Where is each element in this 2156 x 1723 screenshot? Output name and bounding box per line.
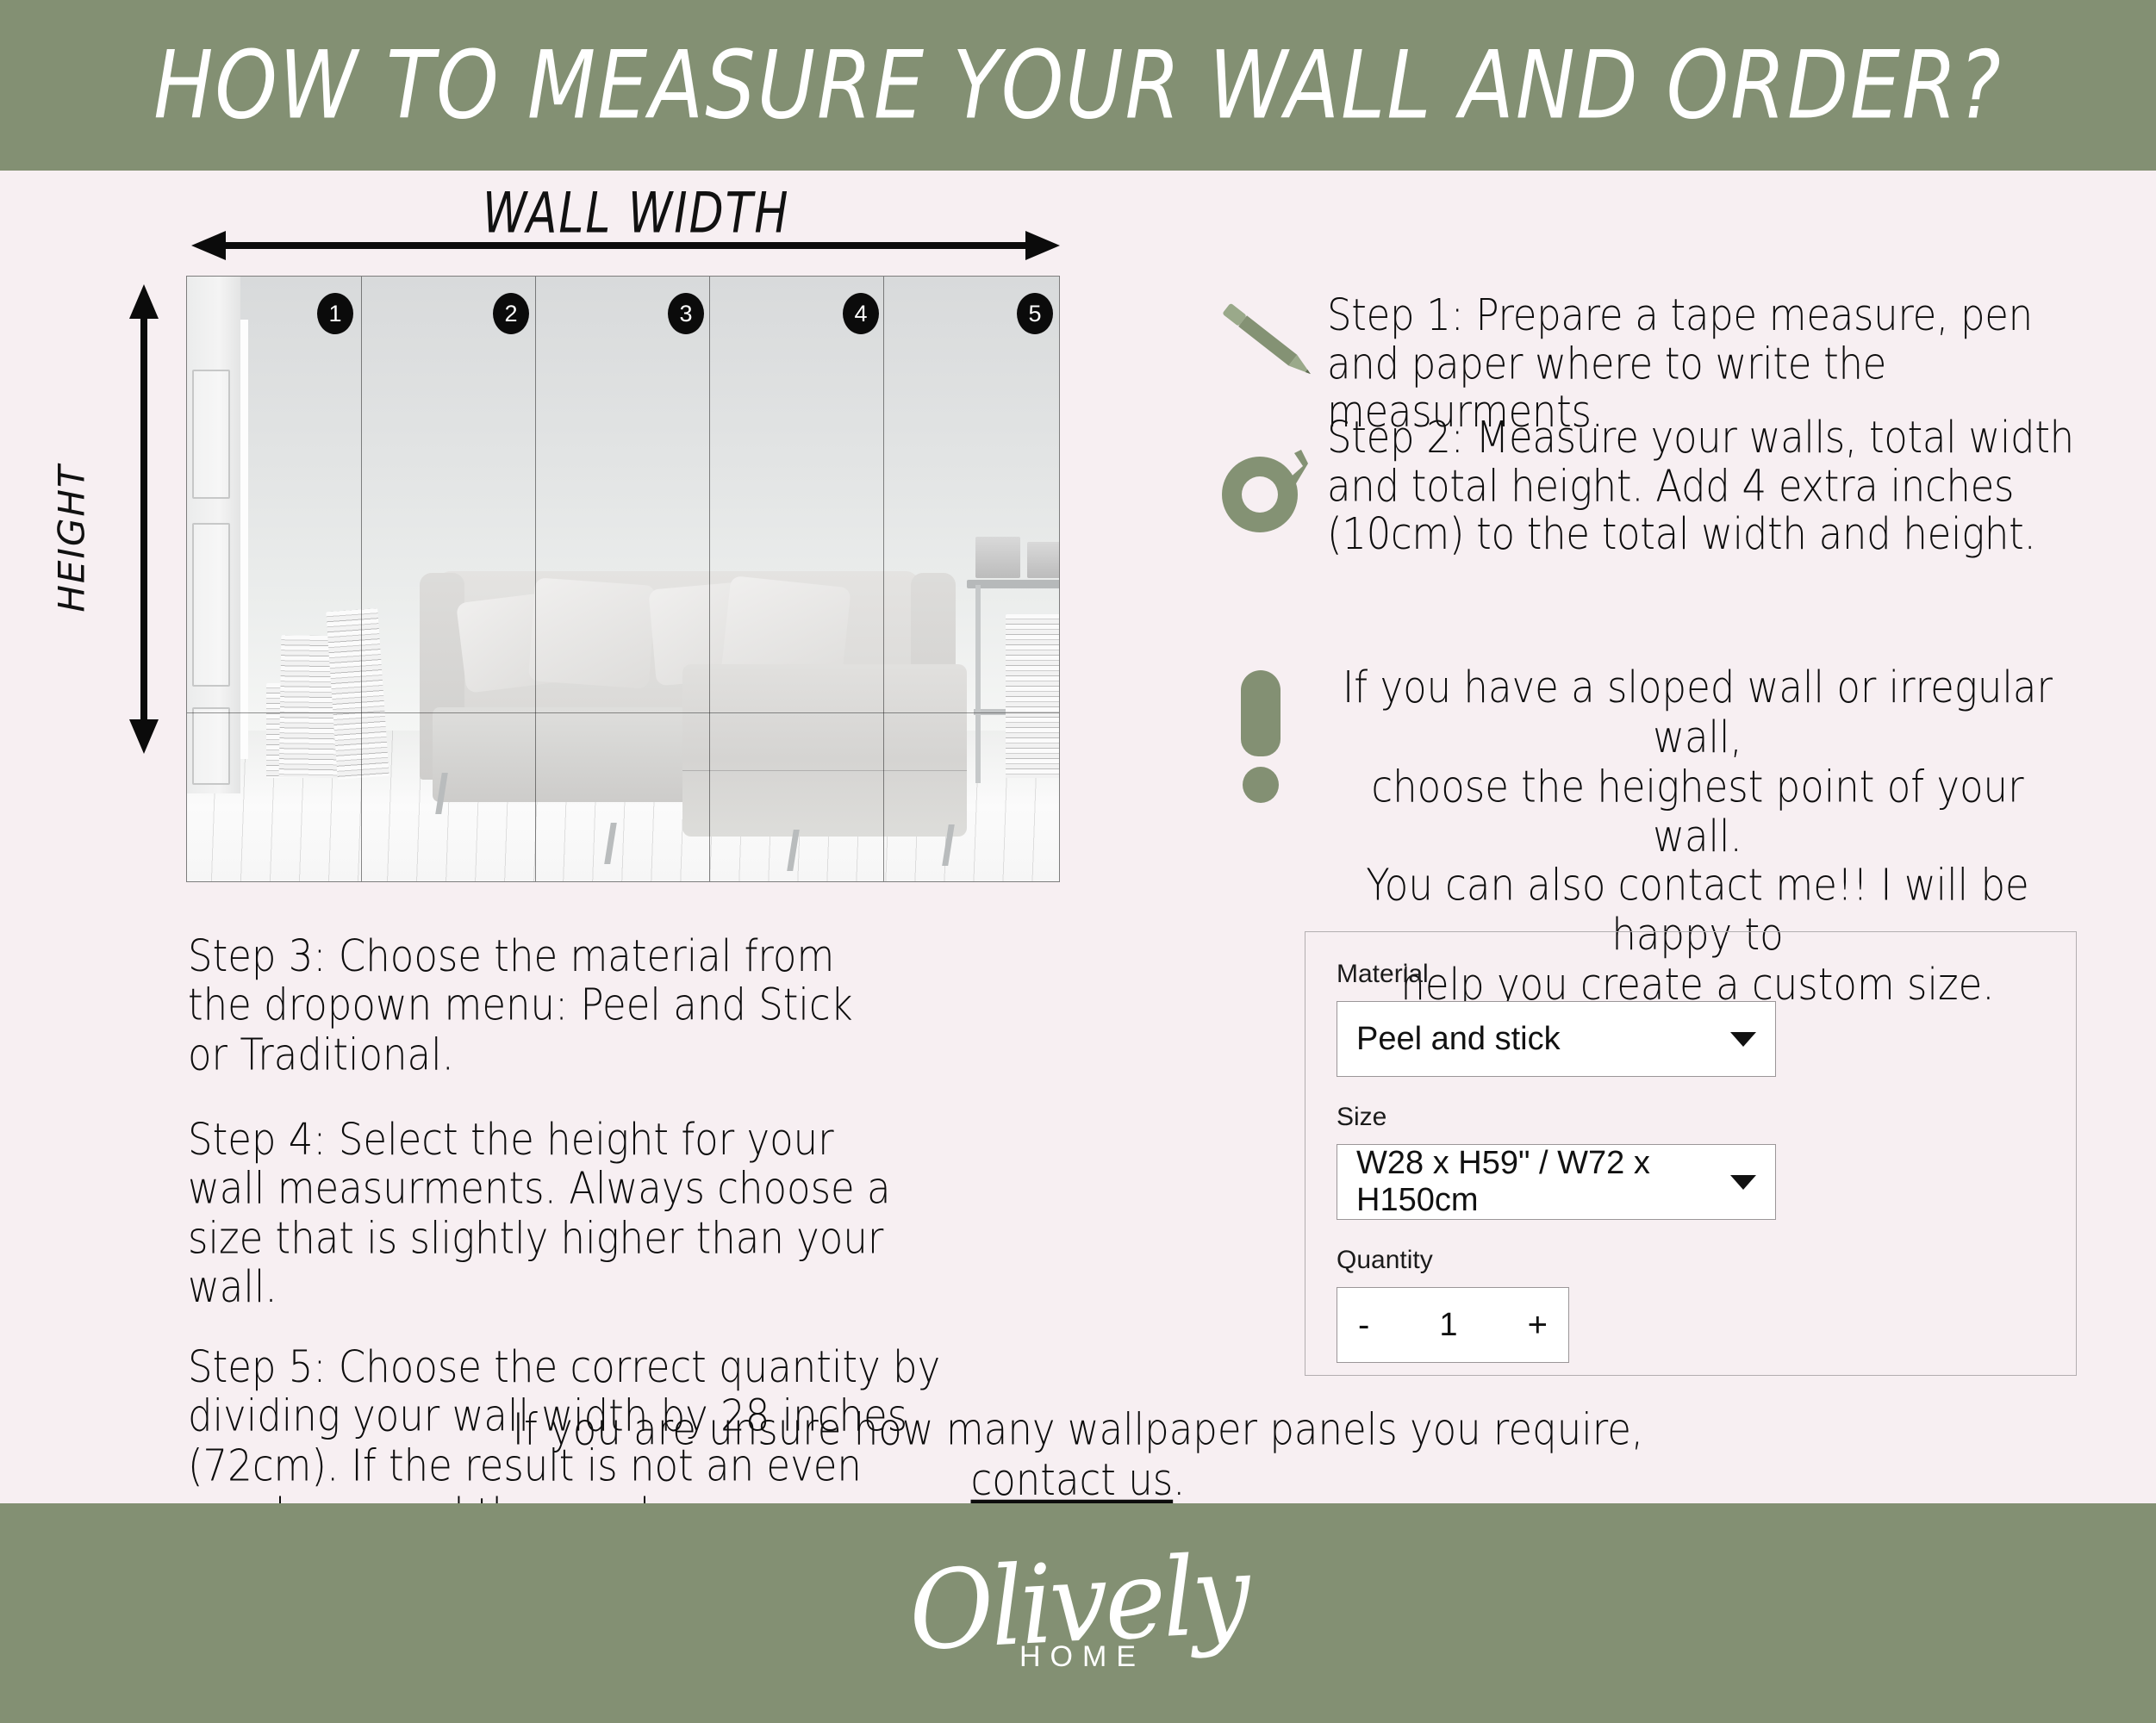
table-decor-box xyxy=(975,537,1020,578)
contact-us-link[interactable]: contact us xyxy=(971,1453,1174,1505)
quantity-stepper[interactable]: - 1 + xyxy=(1337,1287,1569,1363)
warning-line-2: choose the heighest point of your wall. xyxy=(1327,762,2068,861)
contact-line: contact us. xyxy=(0,1454,2156,1504)
table-decor-books xyxy=(1027,542,1060,578)
size-label: Size xyxy=(1337,1103,2045,1132)
size-select[interactable]: W28 x H59" / W72 x H150cm xyxy=(1337,1144,1776,1220)
chaise-seam xyxy=(682,770,967,771)
step-2-text: Step 2: Measure your walls, total width … xyxy=(1327,414,2085,558)
step-4-text: Step 4: Select the height for your wall … xyxy=(188,1116,894,1312)
panel-badge-3: 3 xyxy=(668,293,704,334)
step-3-text: Step 3: Choose the material from the dro… xyxy=(188,932,869,1079)
door-frame xyxy=(187,277,240,793)
panel-divider-3 xyxy=(709,277,710,881)
chevron-down-icon xyxy=(1730,1032,1756,1047)
room-preview-image xyxy=(186,276,1060,882)
wall-height-label: HEIGHT xyxy=(51,463,93,612)
sofa-chaise xyxy=(682,664,967,837)
step-1-row: Step 1: Prepare a tape measure, pen and … xyxy=(1327,291,2068,420)
panel-divider-4 xyxy=(883,277,884,881)
sofa-seat xyxy=(433,707,691,802)
panel-badge-4: 4 xyxy=(843,293,879,334)
pillow-2 xyxy=(528,577,656,688)
panel-badge-1: 1 xyxy=(317,293,353,334)
warning-line-1: If you have a sloped wall or irregular w… xyxy=(1327,663,2068,762)
order-form-panel: Material Peel and stick Size W28 x H59" … xyxy=(1305,931,2077,1376)
door-edge xyxy=(240,320,248,759)
quantity-value[interactable]: 1 xyxy=(1439,1307,1457,1344)
size-selected-value: W28 x H59" / W72 x H150cm xyxy=(1356,1145,1722,1219)
tape-measure-icon xyxy=(1212,427,1341,548)
page-footer: Olively HOME xyxy=(0,1503,2156,1723)
brand-logo: Olively xyxy=(907,1541,1249,1667)
wall-height-arrow-icon xyxy=(129,284,159,754)
chevron-down-icon xyxy=(1730,1175,1756,1190)
book-stack-right-1 xyxy=(1006,614,1060,778)
page-title: HOW TO MEASURE YOUR WALL AND ORDER? xyxy=(153,31,2003,140)
bottom-note-line: If you are unsure how many wallpaper pan… xyxy=(0,1404,2156,1454)
bottom-note: If you are unsure how many wallpaper pan… xyxy=(0,1404,2156,1505)
page-header: HOW TO MEASURE YOUR WALL AND ORDER? xyxy=(0,0,2156,171)
contact-period: . xyxy=(1173,1453,1185,1505)
panel-divider-2 xyxy=(535,277,536,881)
step-2-row: Step 2: Measure your walls, total width … xyxy=(1327,414,2085,542)
material-selected-value: Peel and stick xyxy=(1356,1021,1722,1058)
quantity-increment-button[interactable]: + xyxy=(1528,1306,1548,1345)
horizontal-guide xyxy=(187,712,1059,713)
panel-badge-2: 2 xyxy=(493,293,529,334)
wall-width-arrow-icon xyxy=(191,231,1060,260)
material-label: Material xyxy=(1337,960,2045,989)
quantity-decrement-button[interactable]: - xyxy=(1358,1306,1369,1345)
pencil-icon xyxy=(1200,289,1337,393)
material-select[interactable]: Peel and stick xyxy=(1337,1001,1776,1077)
panel-divider-1 xyxy=(361,277,362,881)
exclamation-icon xyxy=(1241,670,1281,799)
quantity-label: Quantity xyxy=(1337,1246,2045,1275)
panel-badge-5: 5 xyxy=(1017,293,1053,334)
